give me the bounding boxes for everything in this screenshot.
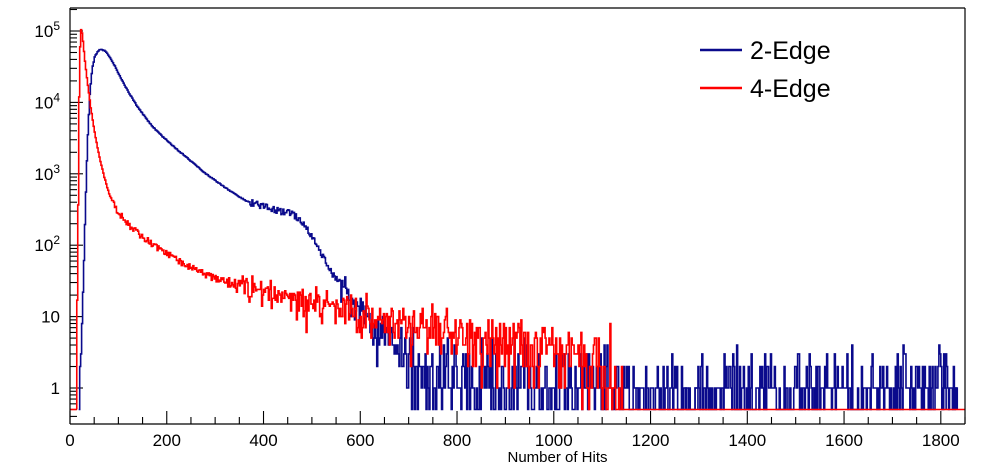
x-tick-label: 800: [443, 431, 471, 450]
x-tick-label: 1200: [632, 431, 670, 450]
y-tick-label: 1: [51, 379, 60, 398]
x-tick-label: 600: [346, 431, 374, 450]
x-axis-title: Number of Hits: [507, 449, 607, 466]
x-tick-label: 0: [65, 431, 74, 450]
y-tick-label: 105: [34, 19, 60, 41]
legend-label-2-edge: 2-Edge: [750, 37, 831, 65]
y-tick-label: 104: [34, 90, 60, 112]
y-tick-label: 103: [34, 162, 60, 184]
x-tick-label: 1000: [535, 431, 573, 450]
chart-figure: 1101021031041050200400600800100012001400…: [0, 0, 996, 472]
y-tick-label: 10: [41, 308, 60, 327]
x-tick-label: 200: [153, 431, 181, 450]
legend-label-4-edge: 4-Edge: [750, 75, 831, 103]
y-tick-label: 102: [34, 233, 60, 255]
x-tick-label: 1400: [728, 431, 766, 450]
x-tick-label: 1600: [825, 431, 863, 450]
histogram-plot: 1101021031041050200400600800100012001400…: [0, 0, 996, 472]
x-tick-label: 1800: [922, 431, 960, 450]
x-tick-label: 400: [249, 431, 277, 450]
